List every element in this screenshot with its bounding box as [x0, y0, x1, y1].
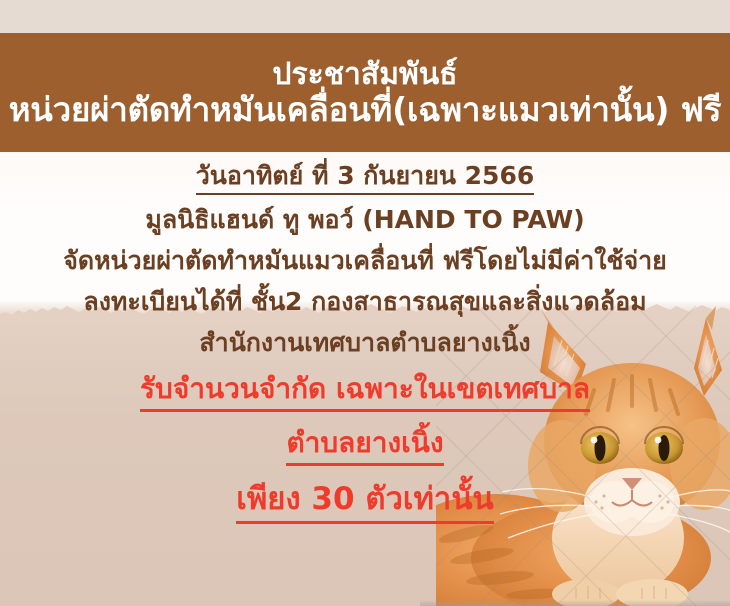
- top-beige-strip: [0, 0, 730, 33]
- organization-line: มูลนิธิแฮนด์ ทู พอว์ (HAND TO PAW): [0, 204, 730, 236]
- date-line-text: วันอาทิตย์ ที่ 3 กันยายน 2566: [196, 160, 534, 195]
- poster-canvas: ประชาสัมพันธ์ หน่วยผ่าตัดทำหมันเคลื่อนที…: [0, 0, 730, 606]
- limited-quota-line-2-text: ตำบลยางเนิ้ง: [286, 425, 443, 466]
- header-banner: ประชาสัมพันธ์ หน่วยผ่าตัดทำหมันเคลื่อนที…: [0, 33, 730, 152]
- body-text-block: วันอาทิตย์ ที่ 3 กันยายน 2566 มูลนิธิแฮน…: [0, 160, 730, 524]
- service-description-line: จัดหน่วยผ่าตัดทำหมันแมวเคลื่อนที่ ฟรีโดย…: [0, 245, 730, 277]
- limited-quota-line-2: ตำบลยางเนิ้ง: [0, 425, 730, 466]
- municipal-office-line: สำนักงานเทศบาลตำบลยางเนิ้ง: [0, 327, 730, 359]
- quota-count-line: เพียง 30 ตัวเท่านั้น: [0, 480, 730, 525]
- limited-quota-line-1: รับจำนวนจำกัด เฉพาะในเขตเทศบาล: [0, 371, 730, 412]
- registration-location-line: ลงทะเบียนได้ที่ ชั้น2 กองสาธารณสุขและสิ่…: [0, 286, 730, 318]
- banner-title-line-1: ประชาสัมพันธ์: [272, 58, 457, 92]
- quota-count-text: เพียง 30 ตัวเท่านั้น: [236, 480, 493, 525]
- banner-title-line-2: หน่วยผ่าตัดทำหมันเคลื่อนที่(เฉพาะแมวเท่า…: [9, 92, 722, 129]
- date-line: วันอาทิตย์ ที่ 3 กันยายน 2566: [0, 160, 730, 195]
- limited-quota-line-1-text: รับจำนวนจำกัด เฉพาะในเขตเทศบาล: [140, 371, 590, 412]
- floor-shadow: [420, 600, 730, 606]
